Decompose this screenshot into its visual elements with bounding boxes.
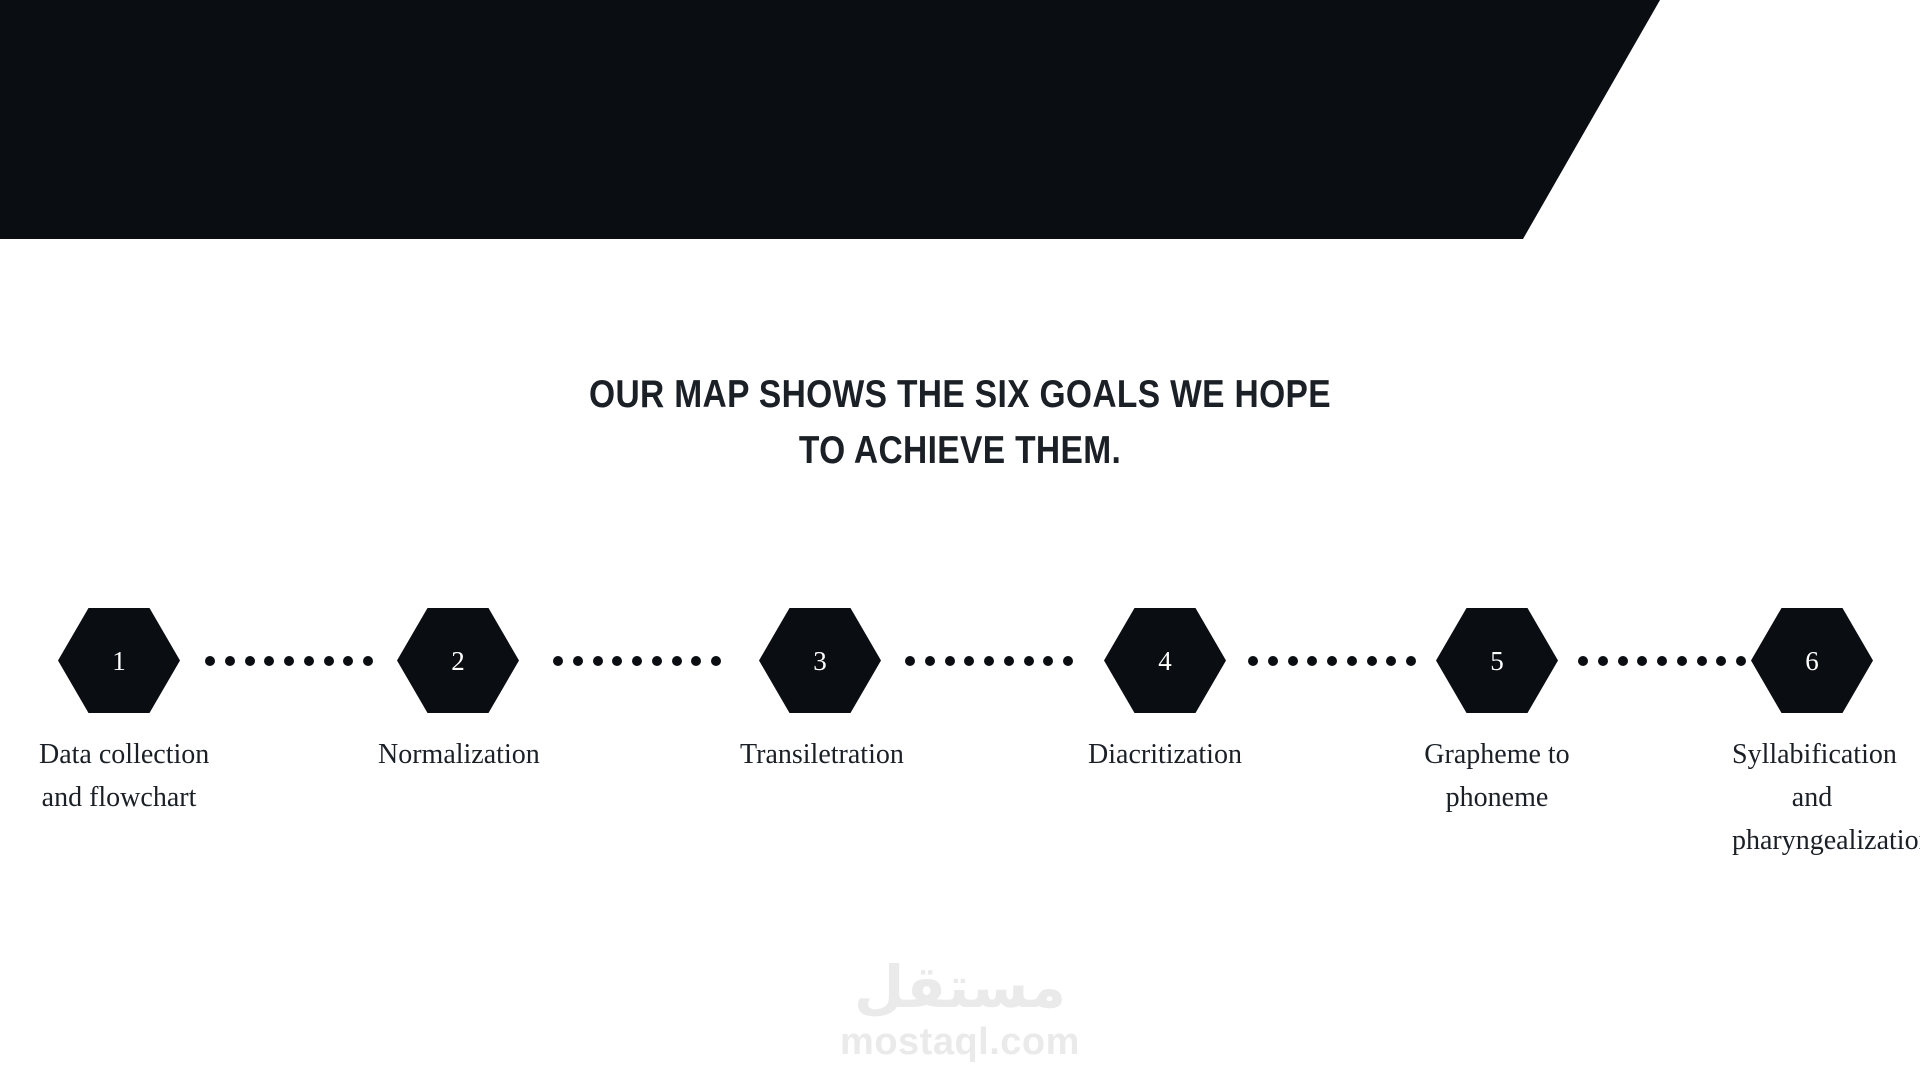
hexagon-icon-1[interactable]: 1 [58, 608, 180, 713]
roadmap-flow: 1Data collectionand flowchart2Normalizat… [0, 0, 1920, 1080]
connector-dot [1268, 656, 1278, 666]
connector-dot [225, 656, 235, 666]
connector-dot [324, 656, 334, 666]
connector-dot [553, 656, 563, 666]
step-number: 4 [1158, 648, 1172, 675]
step-number: 2 [451, 648, 465, 675]
connector-dots-2-to-3 [553, 654, 721, 668]
step-label-1: Data collectionand flowchart [39, 733, 199, 819]
roadmap-step-4[interactable]: 4Diacritization [1085, 608, 1245, 776]
hexagon-icon-2[interactable]: 2 [397, 608, 519, 713]
connector-dot [652, 656, 662, 666]
connector-dot [1288, 656, 1298, 666]
connector-dot [245, 656, 255, 666]
connector-dot [632, 656, 642, 666]
connector-dot [304, 656, 314, 666]
roadmap-step-1[interactable]: 1Data collectionand flowchart [39, 608, 199, 819]
connector-dot [1004, 656, 1014, 666]
connector-dot [984, 656, 994, 666]
connector-dot [1307, 656, 1317, 666]
step-number: 5 [1490, 648, 1504, 675]
connector-dot [1386, 656, 1396, 666]
watermark: مستقل mostaql.com [0, 955, 1920, 1065]
connector-dot [264, 656, 274, 666]
connector-dot [363, 656, 373, 666]
step-label-line: Syllabification [1732, 733, 1892, 776]
hexagon-icon-3[interactable]: 3 [759, 608, 881, 713]
step-label-5: Grapheme tophoneme [1417, 733, 1577, 819]
step-label-line: and flowchart [39, 776, 199, 819]
connector-dots-1-to-2 [205, 654, 373, 668]
step-label-line: Transiletration [740, 733, 900, 776]
connector-dots-3-to-4 [905, 654, 1073, 668]
roadmap-step-5[interactable]: 5Grapheme tophoneme [1417, 608, 1577, 819]
step-label-line: and [1732, 776, 1892, 819]
connector-dot [1657, 656, 1667, 666]
step-label-2: Normalization [378, 733, 538, 776]
step-number: 1 [112, 648, 126, 675]
step-number: 6 [1805, 648, 1819, 675]
connector-dot [1697, 656, 1707, 666]
connector-dot [343, 656, 353, 666]
connector-dot [1024, 656, 1034, 666]
connector-dot [711, 656, 721, 666]
connector-dot [925, 656, 935, 666]
step-label-line: Normalization [378, 733, 538, 776]
connector-dot [593, 656, 603, 666]
connector-dot [905, 656, 915, 666]
connector-dot [1063, 656, 1073, 666]
roadmap-step-6[interactable]: 6Syllabificationandpharyngealization [1732, 608, 1892, 862]
connector-dot [672, 656, 682, 666]
step-label-line: Data collection [39, 733, 199, 776]
connector-dot [1716, 656, 1726, 666]
step-label-line: phoneme [1417, 776, 1577, 819]
connector-dot [1327, 656, 1337, 666]
connector-dot [1406, 656, 1416, 666]
watermark-arabic-text: مستقل [0, 955, 1920, 1019]
connector-dot [964, 656, 974, 666]
connector-dot [1347, 656, 1357, 666]
connector-dot [573, 656, 583, 666]
step-label-4: Diacritization [1085, 733, 1245, 776]
connector-dot [1637, 656, 1647, 666]
step-label-6: Syllabificationandpharyngealization [1732, 733, 1892, 862]
hexagon-icon-5[interactable]: 5 [1436, 608, 1558, 713]
slide-canvas: OUR MAP SHOWS THE SIX GOALS WE HOPE TO A… [0, 0, 1920, 1080]
step-label-line: pharyngealization [1732, 819, 1892, 862]
connector-dots-4-to-5 [1248, 654, 1416, 668]
connector-dot [1248, 656, 1258, 666]
connector-dot [945, 656, 955, 666]
roadmap-step-2[interactable]: 2Normalization [378, 608, 538, 776]
connector-dot [1367, 656, 1377, 666]
connector-dot [1677, 656, 1687, 666]
roadmap-step-3[interactable]: 3Transiletration [740, 608, 900, 776]
step-label-3: Transiletration [740, 733, 900, 776]
hexagon-icon-6[interactable]: 6 [1751, 608, 1873, 713]
connector-dot [1618, 656, 1628, 666]
connector-dot [1598, 656, 1608, 666]
step-label-line: Diacritization [1085, 733, 1245, 776]
connector-dot [612, 656, 622, 666]
connector-dot [1578, 656, 1588, 666]
watermark-latin-text: mostaql.com [0, 1019, 1920, 1065]
connector-dot [1043, 656, 1053, 666]
step-number: 3 [813, 648, 827, 675]
connector-dot [284, 656, 294, 666]
step-label-line: Grapheme to [1417, 733, 1577, 776]
connector-dots-5-to-6 [1578, 654, 1746, 668]
connector-dot [691, 656, 701, 666]
hexagon-icon-4[interactable]: 4 [1104, 608, 1226, 713]
connector-dot [205, 656, 215, 666]
